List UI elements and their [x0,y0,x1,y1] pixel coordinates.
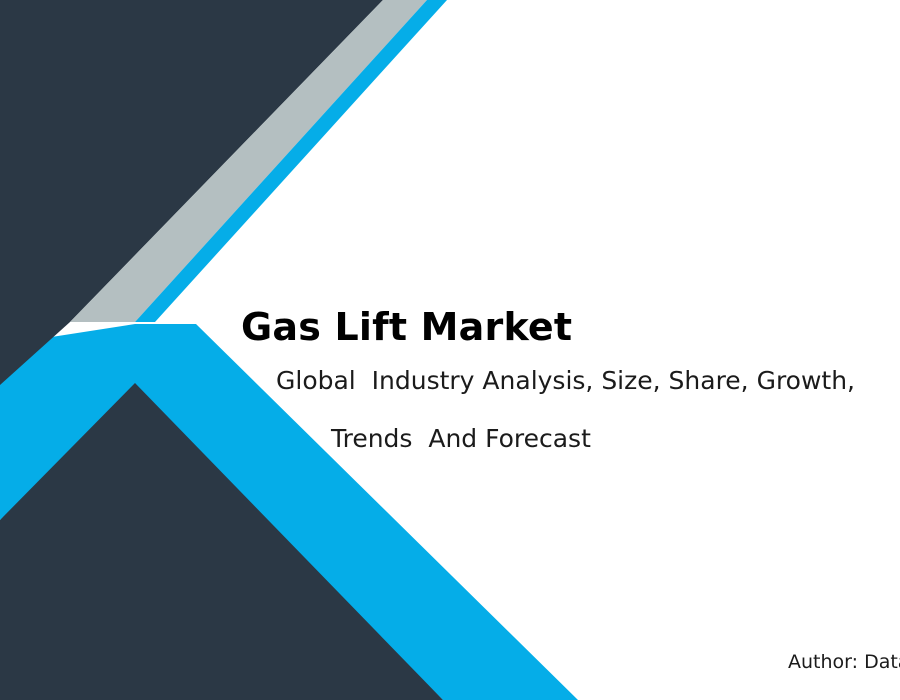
text-layer: Gas Lift Market Global Industry Analysis… [0,0,900,700]
subtitle-line-1: Global Industry Analysis, Size, Share, G… [276,367,855,396]
author-label: Author: Data [788,652,900,674]
subtitle-line-2: Trends And Forecast [331,425,591,454]
page-title: Gas Lift Market [241,306,572,350]
title-slide: Gas Lift Market Global Industry Analysis… [0,0,900,700]
